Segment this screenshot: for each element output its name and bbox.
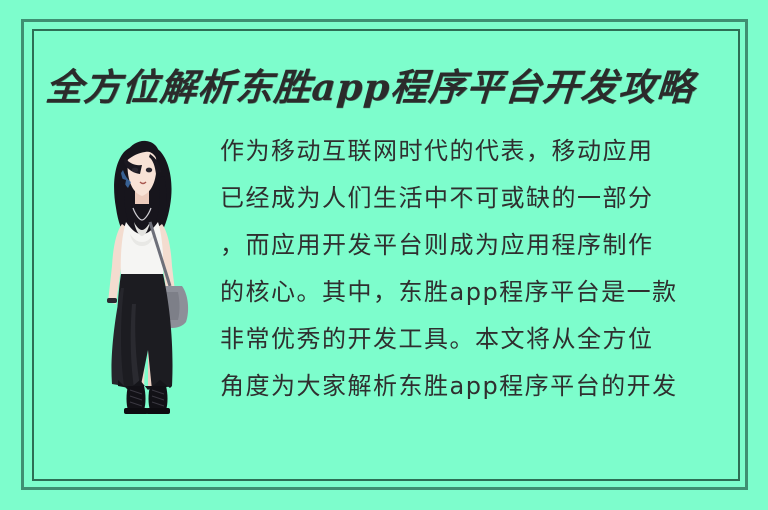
body-line: 已经成为人们生活中不可或缺的一部分	[220, 175, 740, 222]
poster-canvas: 全方位解析东胜app程序平台开发攻略	[0, 0, 768, 510]
body-line: ，而应用开发平台则成为应用程序制作	[220, 222, 740, 269]
body-paragraph: 作为移动互联网时代的代表，移动应用 已经成为人们生活中不可或缺的一部分 ，而应用…	[220, 128, 740, 410]
body-line: 作为移动互联网时代的代表，移动应用	[220, 128, 740, 175]
page-title: 全方位解析东胜app程序平台开发攻略	[44, 56, 728, 112]
body-line: 非常优秀的开发工具。本文将从全方位	[220, 316, 740, 363]
body-line: 角度为大家解析东胜app程序平台的开发	[220, 363, 740, 410]
body-line: 的核心。其中，东胜app程序平台是一款	[220, 269, 740, 316]
anime-girl-illustration	[78, 118, 206, 418]
